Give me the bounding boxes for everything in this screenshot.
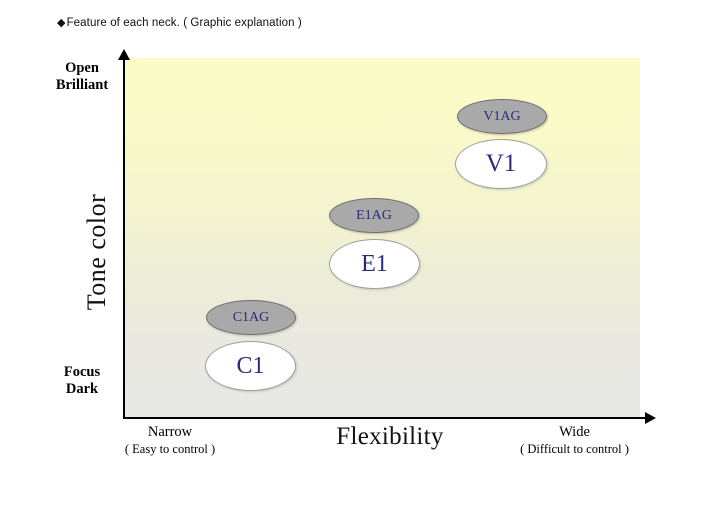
y-axis-min-label-line2: Dark	[66, 381, 98, 397]
y-axis-min-label: Focus Dark	[46, 364, 118, 398]
x-axis-arrow-icon	[645, 412, 656, 424]
y-axis-max-label-line2: Brilliant	[56, 77, 108, 93]
data-point-label: E1	[361, 251, 388, 278]
page-title-text: Feature of each neck. ( Graphic explanat…	[67, 17, 302, 29]
data-point-c1ag[interactable]: C1AG	[206, 300, 296, 335]
plot-area: C1AG C1 E1AG E1 V1AG V1	[125, 58, 640, 418]
y-axis-max-label-line1: Open	[65, 60, 99, 76]
data-point-label: E1AG	[356, 208, 392, 224]
chart-page: ◆Feature of each neck. ( Graphic explana…	[0, 0, 707, 529]
x-axis-max-label: Wide ( Difficult to control )	[487, 424, 662, 457]
page-title: ◆Feature of each neck. ( Graphic explana…	[57, 16, 302, 29]
data-point-label: V1AG	[483, 109, 520, 125]
data-point-label: C1	[236, 353, 264, 380]
y-axis-max-label: Open Brilliant	[46, 60, 118, 94]
data-point-e1[interactable]: E1	[329, 239, 420, 289]
data-point-e1ag[interactable]: E1AG	[329, 198, 419, 233]
data-point-c1[interactable]: C1	[205, 341, 296, 391]
x-axis-min-label-sub: ( Easy to control )	[105, 441, 235, 457]
y-axis-min-label-line1: Focus	[64, 364, 100, 380]
data-point-label: C1AG	[233, 310, 270, 326]
y-axis-arrow-icon	[118, 49, 130, 60]
x-axis-title: Flexibility	[300, 423, 480, 451]
x-axis-max-label-main: Wide	[487, 424, 662, 441]
x-axis-min-label-main: Narrow	[105, 424, 235, 441]
data-point-v1ag[interactable]: V1AG	[457, 99, 547, 134]
x-axis-min-label: Narrow ( Easy to control )	[105, 424, 235, 457]
y-axis-line	[123, 57, 125, 419]
diamond-bullet-icon: ◆	[57, 17, 66, 29]
x-axis-line	[123, 417, 648, 419]
data-point-label: V1	[486, 150, 517, 178]
x-axis-max-label-sub: ( Difficult to control )	[487, 441, 662, 457]
data-point-v1[interactable]: V1	[455, 139, 547, 189]
y-axis-title: Tone color	[82, 142, 112, 362]
